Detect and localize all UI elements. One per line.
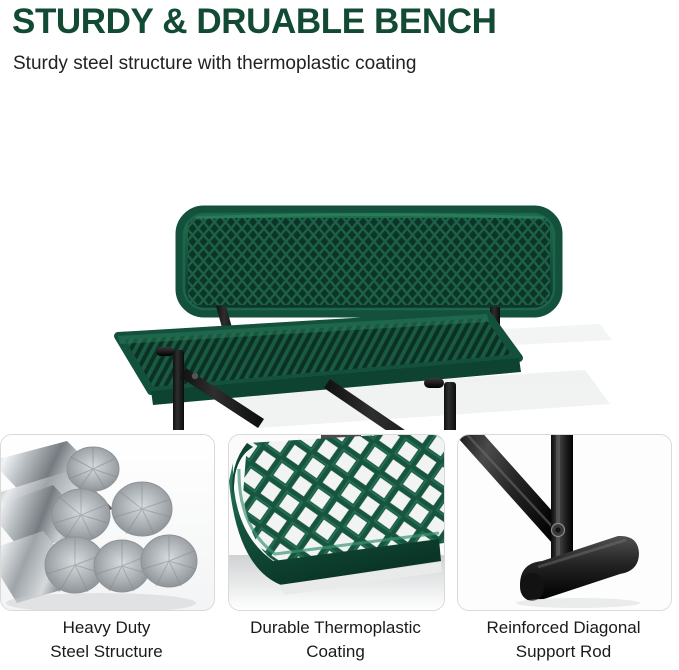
feature-panel-support-rod: Reinforced Diagonal Support Rod	[457, 432, 678, 670]
feature-panels: Heavy Duty Steel Structure	[0, 432, 679, 670]
thermoplastic-mesh-corner-photo	[228, 434, 445, 611]
page-title: STURDY & DRUABLE BENCH	[12, 2, 496, 42]
caption-line-2: Coating	[228, 640, 443, 664]
feature-panel-steel-structure: Heavy Duty Steel Structure	[0, 432, 221, 670]
page-subtitle: Sturdy steel structure with thermoplasti…	[13, 52, 416, 76]
caption-line-2: Support Rod	[457, 640, 670, 664]
steel-rods-photo	[0, 434, 215, 611]
feature-caption: Durable Thermoplastic Coating	[228, 616, 443, 664]
caption-line-2: Steel Structure	[0, 640, 213, 664]
caption-line-1: Heavy Duty	[0, 616, 213, 640]
bench-backrest	[180, 210, 558, 313]
caption-line-1: Durable Thermoplastic	[228, 616, 443, 640]
feature-panel-thermoplastic-coating: Durable Thermoplastic Coating	[228, 432, 449, 670]
feature-caption: Heavy Duty Steel Structure	[0, 616, 213, 664]
hero-product-image	[0, 92, 679, 430]
feature-caption: Reinforced Diagonal Support Rod	[457, 616, 670, 664]
diagonal-support-rod-photo	[457, 434, 672, 611]
header: STURDY & DRUABLE BENCH Sturdy steel stru…	[0, 0, 679, 92]
caption-line-1: Reinforced Diagonal	[457, 616, 670, 640]
bench-illustration	[0, 92, 679, 430]
